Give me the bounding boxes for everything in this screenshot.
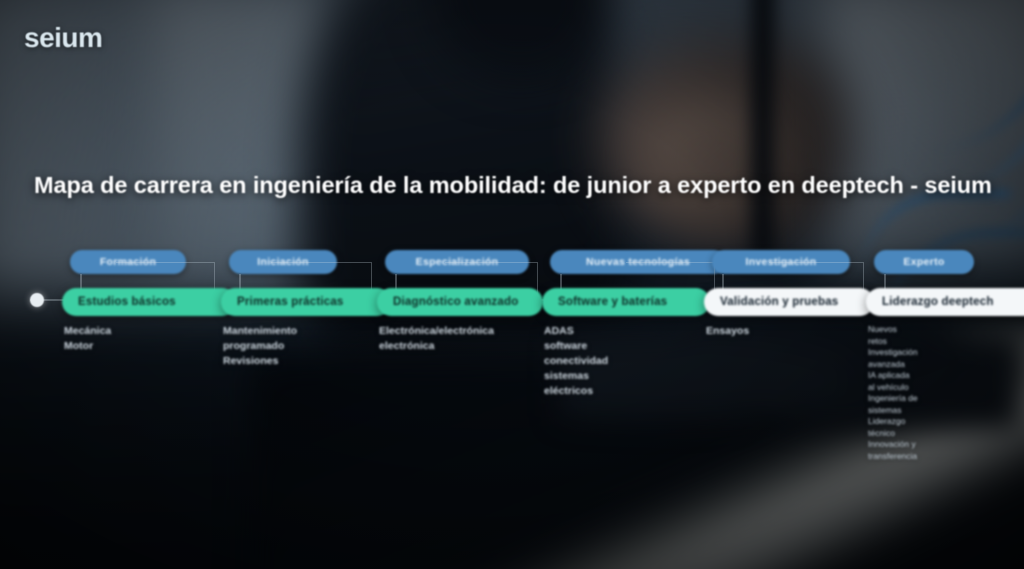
stage-description: Ensayos: [706, 324, 749, 339]
stage-description-line: IA aplicada al vehículo: [868, 370, 918, 393]
stage-description-line: Liderazgo técnico: [868, 416, 918, 439]
stage-description-line: Nuevos retos: [868, 324, 918, 347]
stage-description: Electrónica/electrónicaelectrónica: [379, 324, 494, 354]
stage-description-line: software: [544, 339, 608, 354]
timeline-start-node: [30, 293, 44, 307]
page-title: Mapa de carrera en ingeniería de la mobi…: [34, 172, 984, 199]
stage-description-line: Electrónica/electrónica: [379, 324, 494, 339]
slide-canvas: seium Mapa de carrera en ingeniería de l…: [0, 0, 1024, 569]
stage-pill[interactable]: Validación y pruebas: [704, 288, 874, 316]
stage-description-line: Revisiones: [223, 354, 297, 369]
stage-pill[interactable]: Estudios básicos: [62, 288, 236, 316]
stage-description: Nuevos retosInvestigación avanzadaIA apl…: [868, 324, 918, 462]
stage-description-line: Innovación y transferencia: [868, 439, 918, 462]
stage-description-line: sistemas eléctricos: [544, 369, 608, 399]
brand-logo[interactable]: seium: [24, 22, 102, 54]
stage-tag[interactable]: Experto: [874, 250, 974, 274]
career-roadmap: FormaciónEstudios básicosMecánicaMotorIn…: [0, 236, 1024, 396]
stage-description: MecánicaMotor: [64, 324, 111, 354]
stage-description-line: Investigación avanzada: [868, 347, 918, 370]
stage-pill[interactable]: Software y baterías: [542, 288, 710, 316]
stage-pill[interactable]: Liderazgo deeptech: [866, 288, 1024, 316]
stage-description: ADASsoftwareconectividadsistemas eléctri…: [544, 324, 608, 399]
stage-pill[interactable]: Primeras prácticas: [221, 288, 391, 316]
stage-description-line: electrónica: [379, 339, 494, 354]
stage-description-line: ADAS: [544, 324, 608, 339]
stage-description-line: Ensayos: [706, 324, 749, 339]
stage-description-line: Ingeniería de sistemas: [868, 393, 918, 416]
stage-description-line: Motor: [64, 339, 111, 354]
stage-pill[interactable]: Diagnóstico avanzado: [377, 288, 543, 316]
stage-description-line: Mantenimiento programado: [223, 324, 297, 354]
stage-description: Mantenimiento programadoRevisiones: [223, 324, 297, 369]
stage-description-line: conectividad: [544, 354, 608, 369]
stage-description-line: Mecánica: [64, 324, 111, 339]
